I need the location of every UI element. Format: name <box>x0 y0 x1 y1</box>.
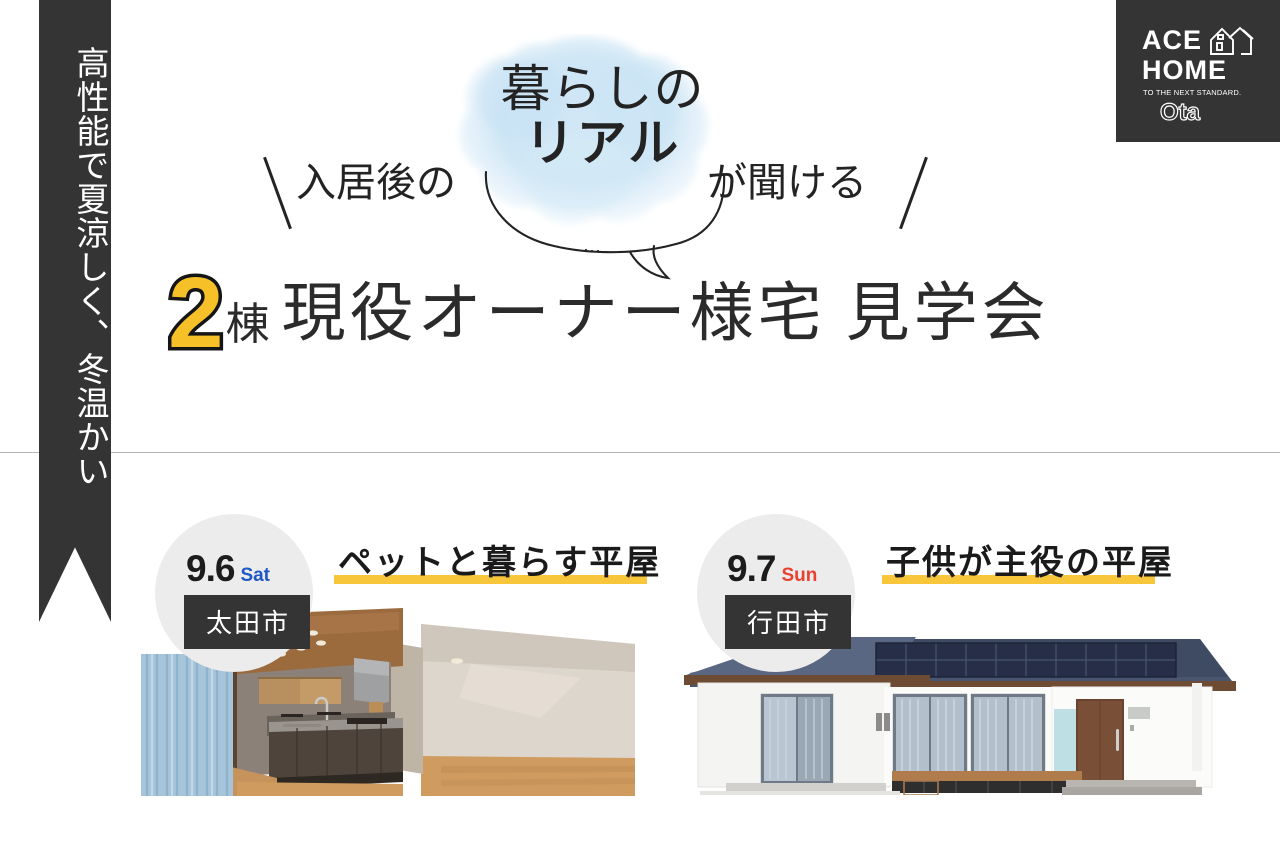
title-main: 現役オーナー様宅 見学会 <box>282 262 1050 356</box>
bubble-line-1: 暮らしの <box>485 64 720 114</box>
lead-text-right: が聞ける <box>707 150 867 208</box>
vertical-ribbon: 高性能で夏涼しく、冬温かい <box>39 0 111 622</box>
slash-mark-left <box>263 157 292 229</box>
logo-tagline: TO THE NEXT STANDARD. <box>1143 88 1241 97</box>
event-date-1: 9.7 Sun <box>727 548 817 590</box>
title-number: 2 <box>168 270 222 356</box>
event-day-of-week-1: Sun <box>781 565 817 587</box>
logo-line-2: HOME <box>1142 55 1227 86</box>
speech-bubble-text: 暮らしの リアル <box>485 64 720 173</box>
ribbon-text: 高性能で夏涼しく、冬温かい <box>39 46 111 566</box>
logo-branch: Ota <box>1160 99 1200 127</box>
house-roof-icon <box>1209 26 1255 56</box>
event-heading-0: ペットと暮らす平屋 <box>338 535 661 584</box>
slash-mark-right <box>899 157 928 229</box>
event-heading-1: 子供が主役の平屋 <box>886 535 1174 584</box>
event-date-number-1: 9.7 <box>727 548 775 590</box>
title-counter: 棟 <box>226 288 270 356</box>
event-date-number-0: 9.6 <box>186 548 234 590</box>
event-day-of-week-0: Sat <box>240 565 270 587</box>
horizontal-divider <box>0 452 1280 453</box>
logo-line-1: ACE <box>1142 28 1202 54</box>
event-city-badge-1: 行田市 <box>725 595 851 649</box>
event-city-badge-0: 太田市 <box>184 595 310 649</box>
logo-top-row: ACE <box>1142 26 1255 56</box>
lead-text-left: 入居後の <box>296 150 456 208</box>
banner-root: 入居後の が聞ける 暮らしの リアル 2 棟 現役オーナー様宅 見学会 高性能で… <box>0 0 1280 853</box>
bubble-line-2: リアル <box>485 114 720 173</box>
event-date-0: 9.6 Sat <box>186 548 270 590</box>
brand-logo[interactable]: ACE HOME TO THE NEXT STANDARD. Ota <box>1116 0 1280 142</box>
page-title: 2 棟 現役オーナー様宅 見学会 <box>168 262 1050 356</box>
